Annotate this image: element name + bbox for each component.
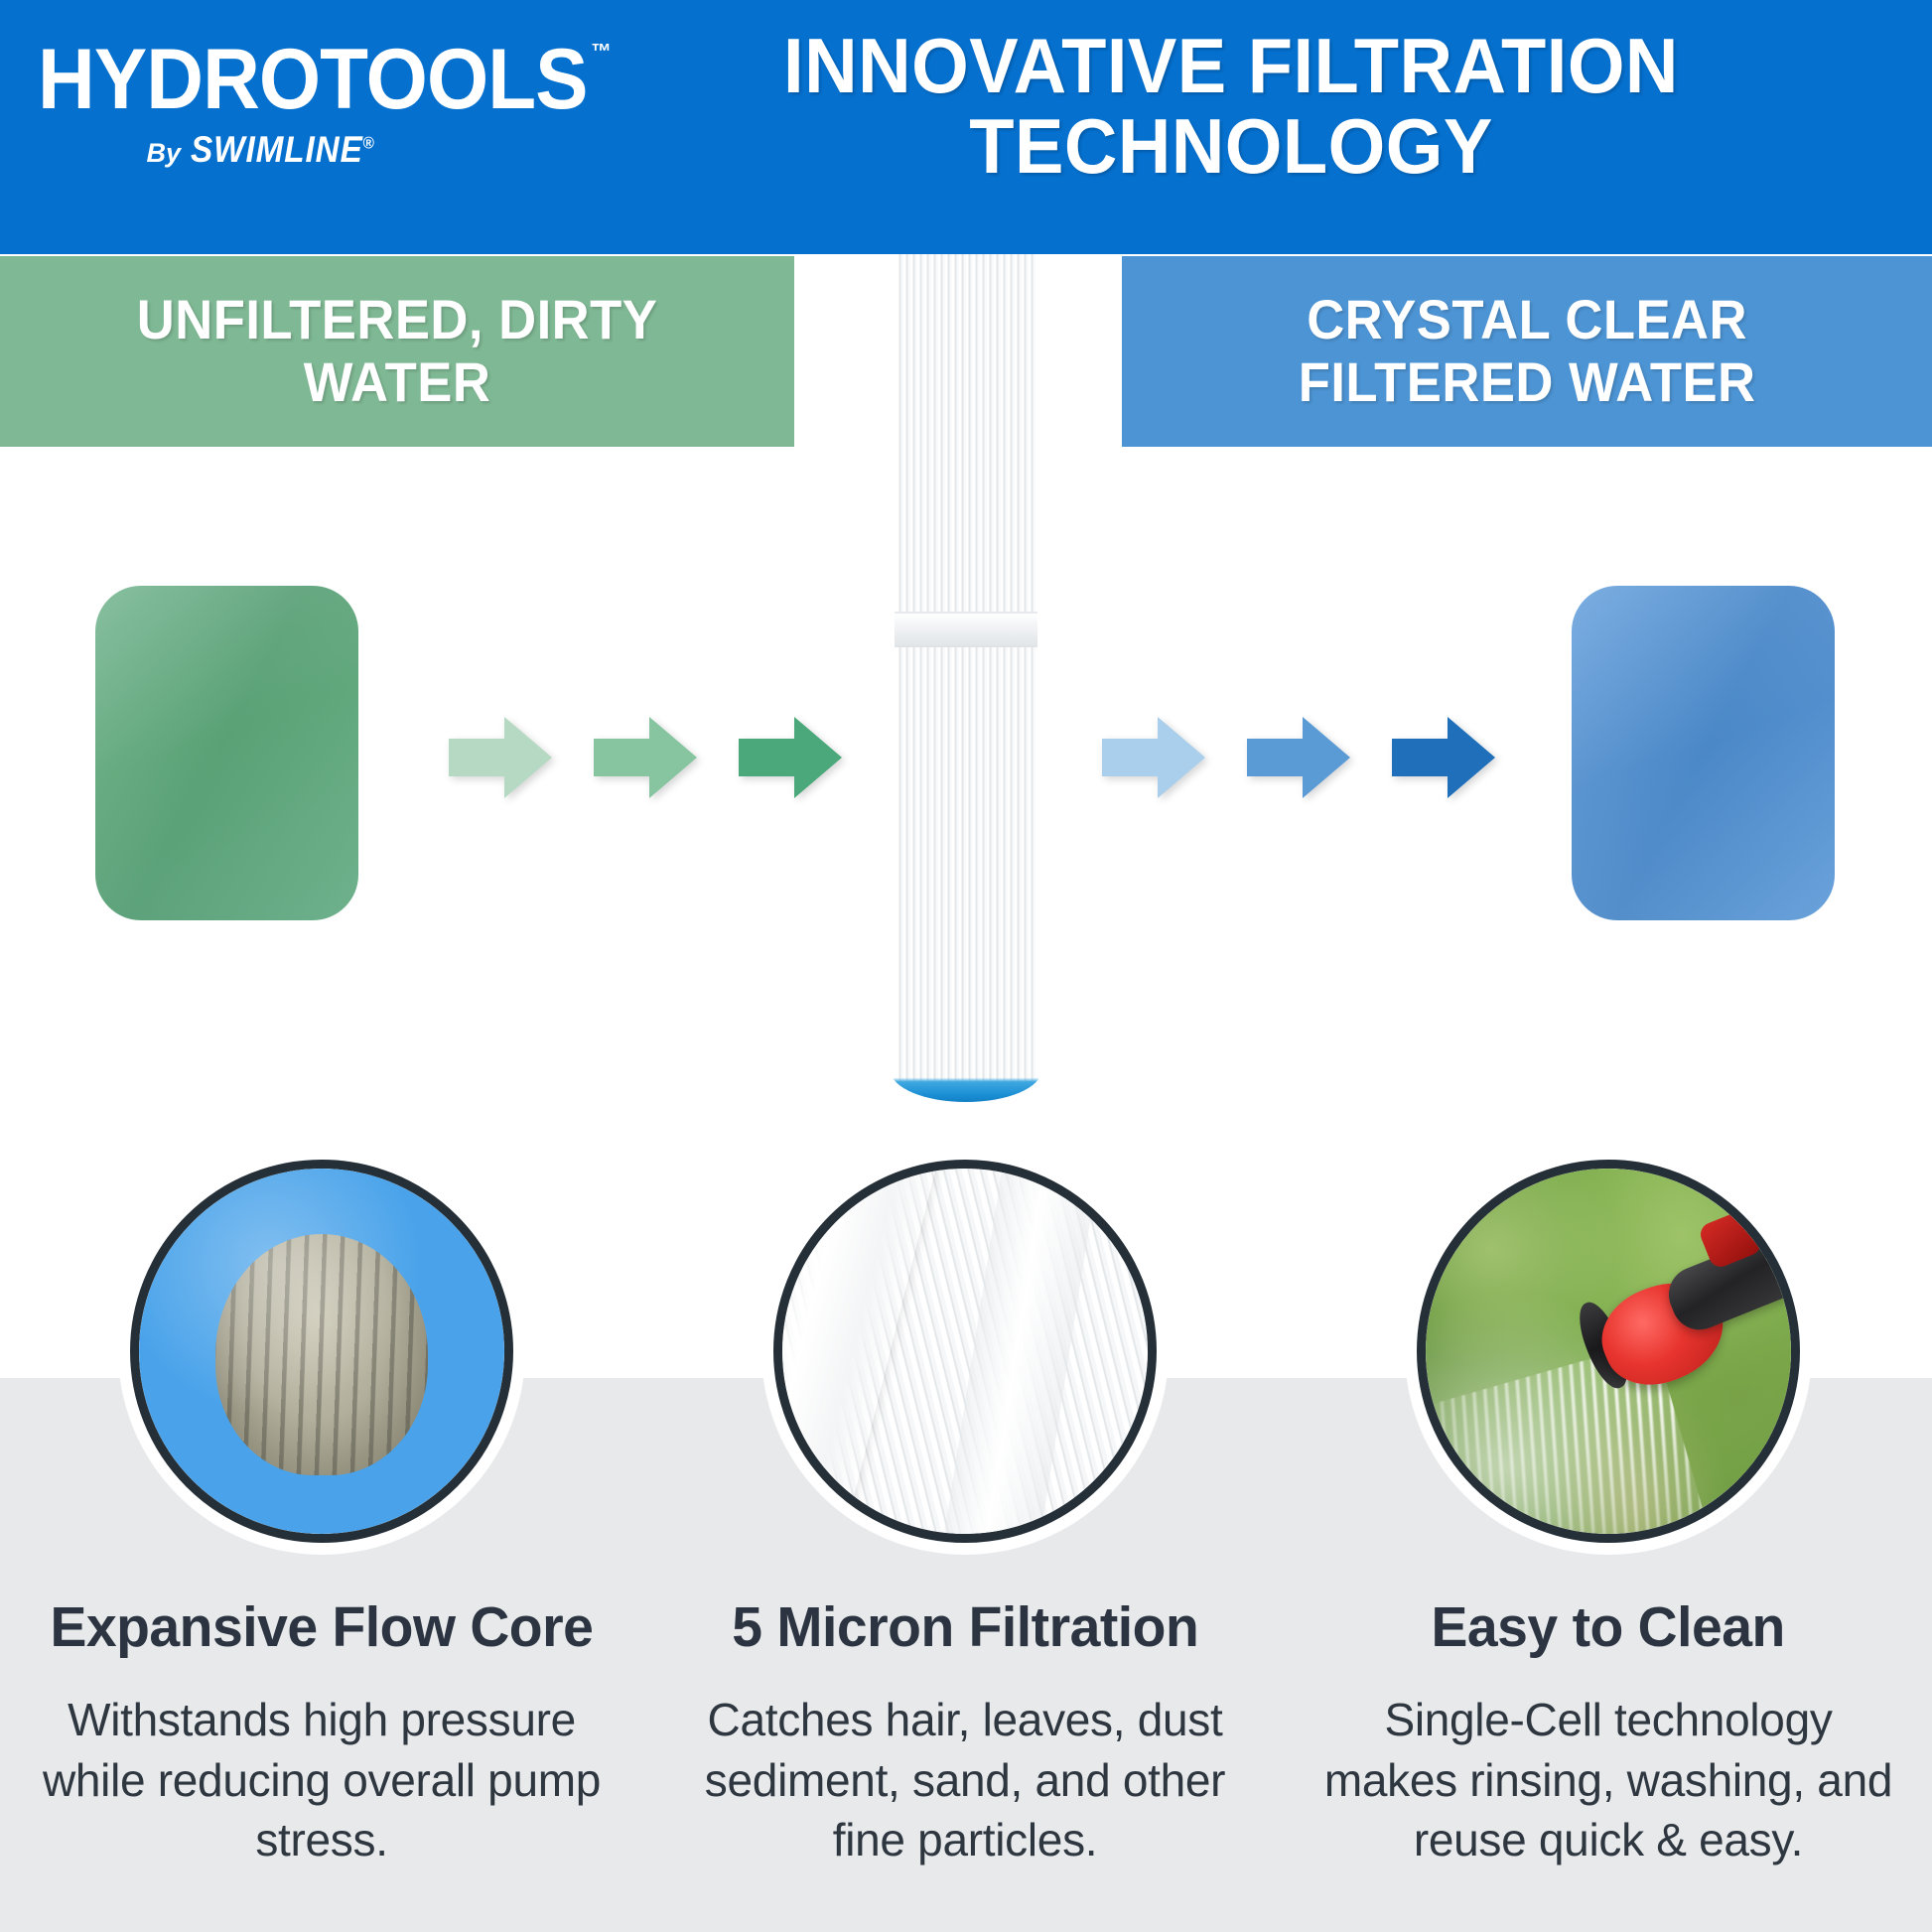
registered-icon: ®	[363, 133, 375, 152]
banner-filtered: CRYSTAL CLEAR FILTERED WATER	[1122, 256, 1932, 447]
feature-card-micron-filtration: 5 Micron Filtration Catches hair, leaves…	[643, 1160, 1287, 1870]
feature-title: 5 Micron Filtration	[732, 1594, 1198, 1660]
arrow-right-icon-green-2	[594, 713, 697, 802]
dirty-water-swatch	[95, 586, 358, 920]
arrow-right-icon-green-1	[449, 713, 552, 802]
green-arrow-group	[449, 713, 842, 802]
infographic-page: HYDROTOOLS™ By SWIMLINE® INNOVATIVE FILT…	[0, 0, 1932, 1932]
brand-name: HYDROTOOLS™	[38, 40, 518, 121]
page-title: INNOVATIVE FILTRATION TECHNOLOGY	[590, 26, 1872, 187]
banner-filtered-label: CRYSTAL CLEAR FILTERED WATER	[1299, 289, 1756, 413]
cartridge-mid-band	[895, 612, 1037, 647]
blue-arrow-group	[1102, 713, 1495, 802]
pleated-filter-media-photo	[782, 1169, 1148, 1534]
arrow-right-icon-blue-2	[1247, 713, 1350, 802]
feature-list: Expansive Flow Core Withstands high pres…	[0, 1160, 1932, 1870]
feature-description: Catches hair, leaves, dust sediment, san…	[669, 1690, 1261, 1870]
filter-cartridge-image	[889, 224, 1043, 1098]
feature-photo-frame	[130, 1160, 513, 1543]
feature-card-flow-core: Expansive Flow Core Withstands high pres…	[0, 1160, 643, 1870]
brand-by-label: By	[146, 138, 181, 169]
brand-logo: HYDROTOOLS™ By SWIMLINE®	[38, 40, 554, 171]
feature-description: Single-Cell technology makes rinsing, wa…	[1312, 1690, 1904, 1870]
feature-description: Withstands high pressure while reducing …	[26, 1690, 618, 1870]
arrow-right-icon-blue-1	[1102, 713, 1205, 802]
clean-water-swatch	[1572, 586, 1835, 920]
brand-name-text: HYDROTOOLS	[38, 32, 588, 127]
hose-spray-nozzle-photo	[1426, 1169, 1791, 1534]
feature-photo-frame	[1417, 1160, 1800, 1543]
banner-unfiltered: UNFILTERED, DIRTY WATER	[0, 256, 794, 447]
brand-parent-name: SWIMLINE®	[191, 129, 375, 171]
filter-flow-core-photo	[139, 1169, 504, 1534]
feature-photo-frame	[773, 1160, 1157, 1543]
cartridge-pleated-body	[897, 238, 1035, 1082]
brand-parent-line: By SWIMLINE®	[38, 129, 504, 171]
feature-title: Easy to Clean	[1432, 1594, 1785, 1660]
cartridge-bottom-cap	[891, 1068, 1041, 1102]
arrow-right-icon-blue-3	[1392, 713, 1495, 802]
arrow-right-icon-green-3	[739, 713, 842, 802]
header-bar: HYDROTOOLS™ By SWIMLINE® INNOVATIVE FILT…	[0, 0, 1932, 254]
feature-card-easy-to-clean: Easy to Clean Single-Cell technology mak…	[1287, 1160, 1930, 1870]
banner-unfiltered-label: UNFILTERED, DIRTY WATER	[137, 289, 658, 413]
feature-title: Expansive Flow Core	[51, 1594, 594, 1660]
